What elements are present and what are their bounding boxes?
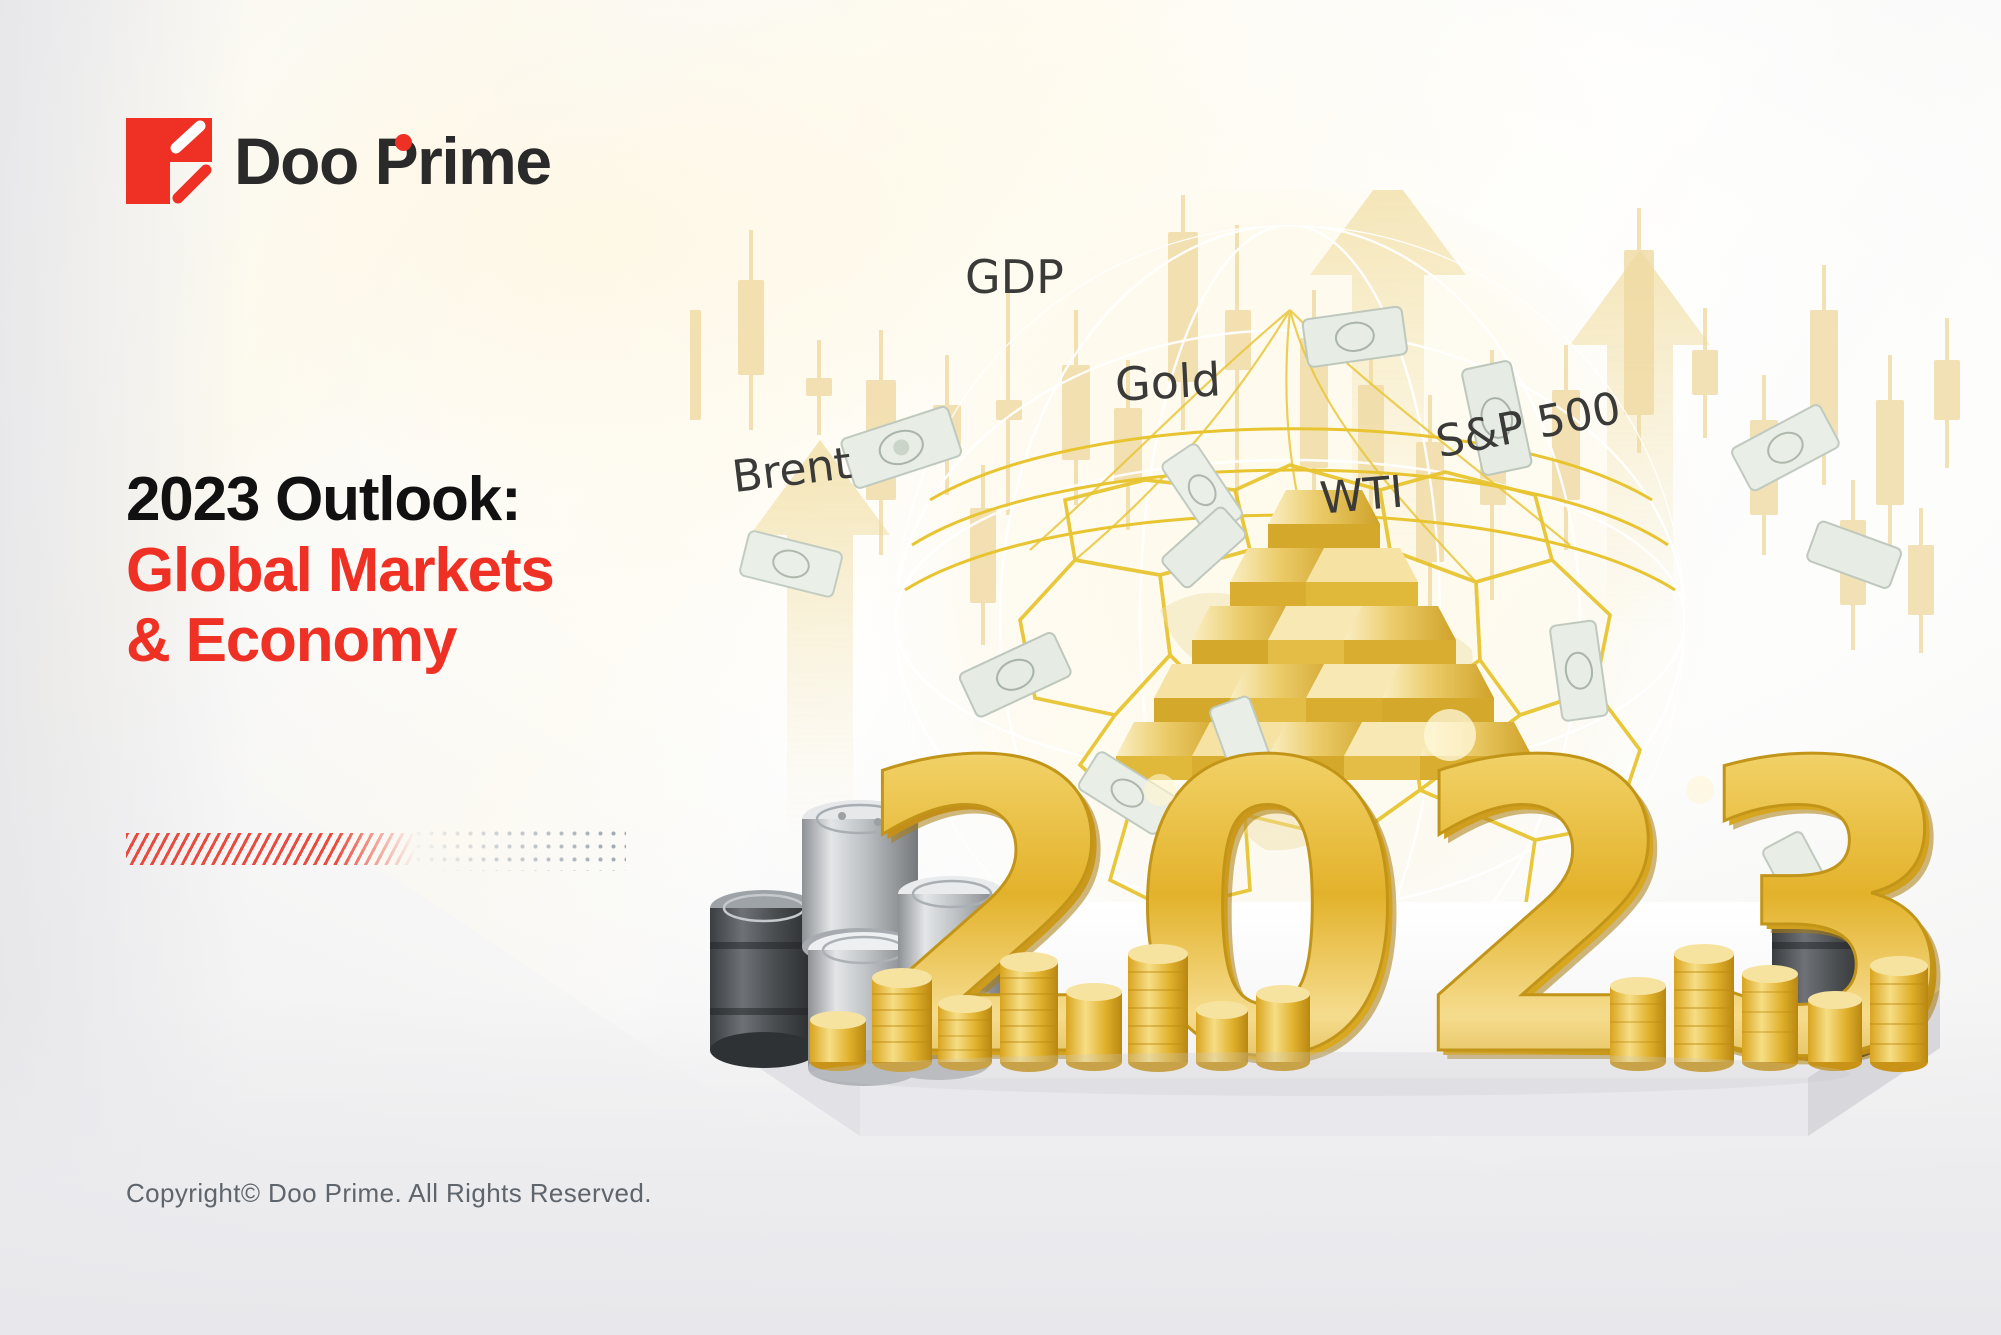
decorative-divider: [126, 825, 626, 873]
headline-line-2: Global Markets: [126, 536, 766, 607]
headline-block: 2023 Outlook: Global Markets & Economy: [126, 465, 766, 677]
divider-red-stripes: [126, 833, 416, 865]
brand-name: Doo Prime: [234, 128, 551, 194]
headline-line-1: 2023 Outlook:: [126, 465, 766, 536]
doo-prime-logo-mark: [126, 118, 212, 204]
brand-i-dot: [395, 134, 412, 151]
illus-label-wti: WTI: [1318, 466, 1405, 524]
divider-dot-grid: [412, 827, 626, 871]
financial-illustration: 2023 2023 2023: [690, 190, 1980, 1190]
illus-label-gdp: GDP: [965, 250, 1064, 304]
headline-line-3: & Economy: [126, 606, 766, 677]
poster-canvas: 2023 2023 2023: [0, 0, 2001, 1335]
brand-name-text: Doo Prime: [234, 124, 551, 198]
brand-logo[interactable]: Doo Prime: [126, 118, 551, 204]
illus-label-gold: Gold: [1114, 352, 1222, 411]
copyright-text: Copyright© Doo Prime. All Rights Reserve…: [126, 1178, 652, 1209]
